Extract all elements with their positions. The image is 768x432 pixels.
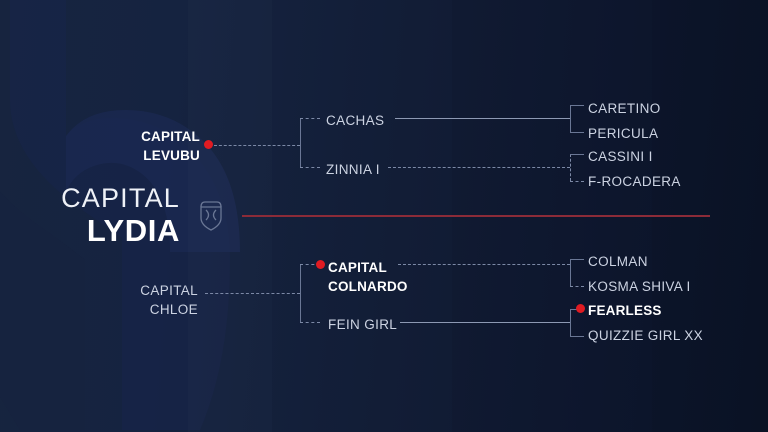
- center-divider: [242, 215, 710, 217]
- node-line1: CAPITAL: [80, 127, 200, 146]
- highlight-dot-capital-levubu: [204, 140, 213, 149]
- bracket-sire-gen2: [300, 118, 301, 167]
- bracket-arm-frocadera: [570, 181, 584, 182]
- pedigree-node-fein-girl[interactable]: FEIN GIRL: [328, 315, 397, 334]
- page-title-line2: LYDIA: [28, 214, 180, 248]
- connector-fein-girl-to-gen3: [400, 322, 570, 323]
- connector-colnardo-to-gen3: [398, 264, 570, 265]
- connector-levubu-to-gen2: [214, 145, 300, 146]
- node-line2: COLNARDO: [328, 277, 408, 296]
- pedigree-node-capital-levubu[interactable]: CAPITAL LEVUBU: [80, 127, 200, 165]
- page-title-line1: CAPITAL: [28, 182, 180, 214]
- pedigree-node-fearless[interactable]: FEARLESS: [588, 301, 662, 320]
- pedigree-node-zinnia-i[interactable]: ZINNIA I: [326, 160, 380, 179]
- bracket-arm-quizzie-girl: [570, 336, 584, 337]
- bracket-arm-kosma-shiva: [570, 286, 584, 287]
- node-line2: LEVUBU: [80, 146, 200, 165]
- pedigree-node-capital-chloe[interactable]: CAPITAL CHLOE: [78, 281, 198, 319]
- bracket-dam-gen2: [300, 264, 301, 322]
- highlight-dot-capital-colnardo: [316, 260, 325, 269]
- bracket-arm-caretino: [570, 105, 584, 106]
- pedigree-node-quizzie-girl-xx[interactable]: QUIZZIE GIRL XX: [588, 326, 703, 345]
- node-line2: CHLOE: [78, 300, 198, 319]
- pedigree-node-cachas[interactable]: CACHAS: [326, 111, 384, 130]
- connector-cachas-to-gen3: [395, 118, 570, 119]
- bracket-sire-gen3-a: [570, 105, 571, 132]
- pedigree-node-kosma-shiva-i[interactable]: KOSMA SHIVA I: [588, 277, 691, 296]
- page-title: CAPITAL LYDIA: [28, 182, 180, 248]
- pedigree-node-pericula[interactable]: PERICULA: [588, 124, 658, 143]
- pedigree-node-f-rocadera[interactable]: F-ROCADERA: [588, 172, 681, 191]
- pedigree-node-capital-colnardo[interactable]: CAPITAL COLNARDO: [328, 258, 408, 296]
- pedigree-node-colman[interactable]: COLMAN: [588, 252, 648, 271]
- node-line1: CAPITAL: [78, 281, 198, 300]
- bracket-arm-zinnia: [300, 167, 320, 168]
- node-line1: CAPITAL: [328, 258, 408, 277]
- highlight-dot-fearless: [576, 304, 585, 313]
- bracket-arm-pericula: [570, 132, 584, 133]
- bracket-dam-gen3-a: [570, 259, 571, 286]
- bracket-dam-gen3-b: [570, 309, 571, 336]
- bracket-arm-cachas: [300, 118, 320, 119]
- bracket-sire-gen3-b: [570, 154, 571, 181]
- connector-chloe-to-gen2: [205, 293, 300, 294]
- bracket-arm-colman: [570, 259, 584, 260]
- pedigree-node-cassini-i[interactable]: CASSINI I: [588, 147, 653, 166]
- shield-crest-icon: [198, 198, 224, 232]
- bracket-arm-cassini: [570, 154, 584, 155]
- bracket-arm-fein-girl: [300, 322, 320, 323]
- connector-zinnia-to-gen3: [388, 167, 570, 168]
- pedigree-node-caretino[interactable]: CARETINO: [588, 99, 661, 118]
